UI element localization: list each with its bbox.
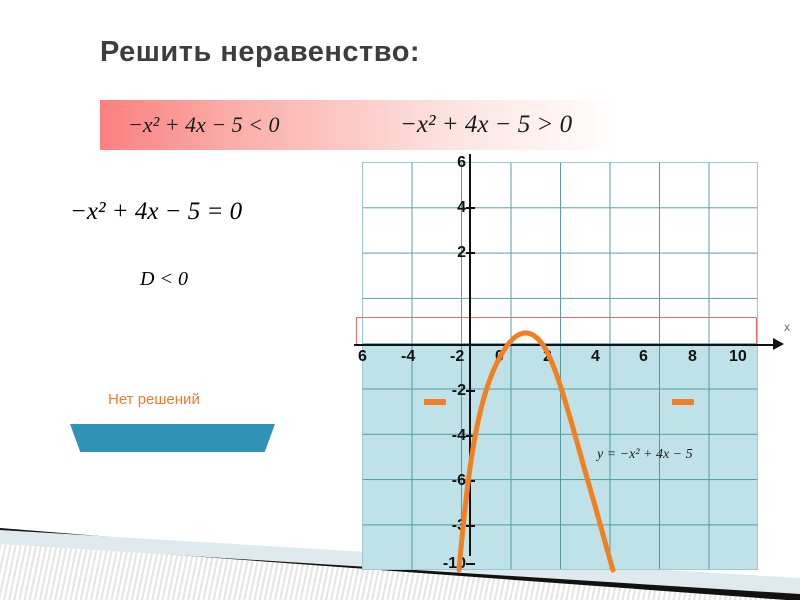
equation-text: −x² + 4x − 5 = 0 — [70, 198, 242, 225]
sign-mark-minus-left — [424, 399, 446, 405]
coordinate-graph: x 6 -4 -2 0 2 4 6 8 10 6 4 2 -2 -4 -6 -3… — [362, 162, 758, 570]
inequality-right: −x² + 4x − 5 > 0 — [400, 111, 572, 139]
inequality-right-text: −x² + 4x − 5 > 0 — [400, 111, 572, 138]
slide-canvas: Решить неравенство: −x² + 4x − 5 < 0 −x²… — [0, 0, 800, 600]
equation-line: −x² + 4x − 5 = 0 — [70, 198, 242, 226]
function-label-text: y = −x² + 4x − 5 — [597, 447, 693, 462]
inequality-left-text: −x² + 4x − 5 < 0 — [128, 112, 280, 137]
x-axis-label: x — [784, 320, 790, 334]
discriminant-text: D < 0 — [140, 268, 188, 290]
parabola-curve — [362, 162, 758, 570]
teal-accent-bar — [70, 424, 275, 452]
no-solutions-label: Нет решений — [108, 391, 200, 408]
x-axis-arrow-icon — [773, 338, 784, 350]
inequality-left: −x² + 4x − 5 < 0 — [128, 112, 280, 138]
function-label: y = −x² + 4x − 5 — [597, 447, 693, 463]
discriminant-line: D < 0 — [140, 268, 188, 291]
inequality-banner: −x² + 4x − 5 < 0 −x² + 4x − 5 > 0 — [100, 100, 750, 150]
page-title: Решить неравенство: — [100, 36, 420, 69]
sign-mark-minus-right — [672, 399, 694, 405]
